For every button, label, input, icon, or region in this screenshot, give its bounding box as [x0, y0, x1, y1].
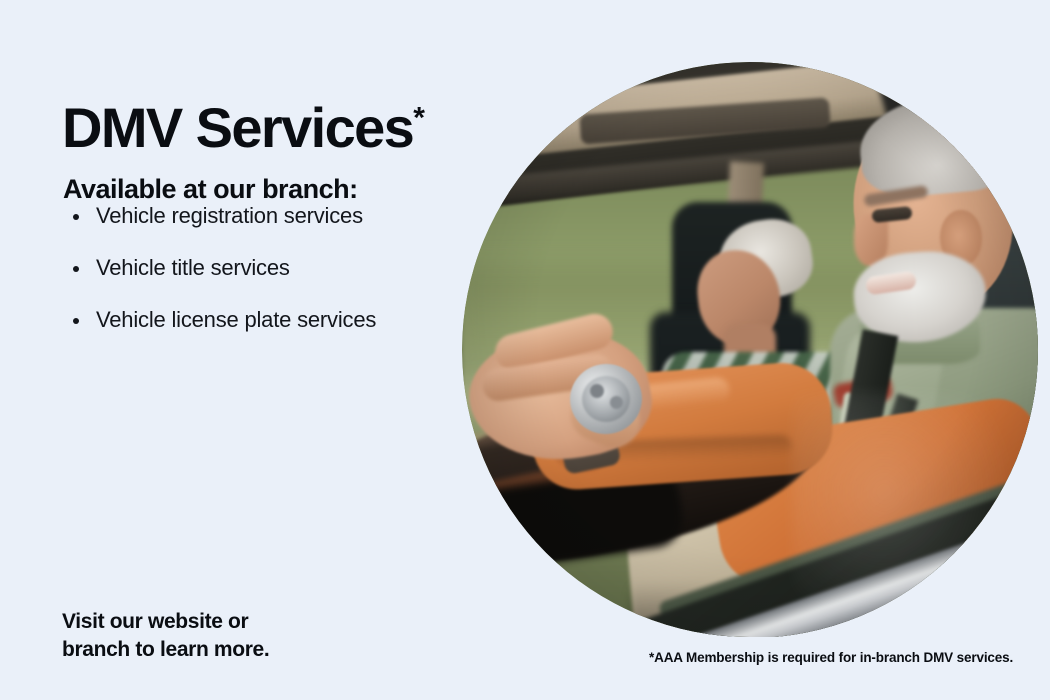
- photo-vignette: [462, 62, 1050, 637]
- list-item: Vehicle registration services: [63, 205, 463, 227]
- bullet-dot-icon: [73, 266, 79, 272]
- promo-banner: DMV Services* Available at our branch: V…: [0, 0, 1050, 700]
- footnote-marker: *: [413, 101, 425, 134]
- bullet-dot-icon: [73, 214, 79, 220]
- list-item-label: Vehicle title services: [96, 255, 290, 280]
- services-list: Vehicle registration services Vehicle ti…: [63, 205, 463, 361]
- page-title-text: DMV Services: [62, 96, 413, 159]
- bullet-dot-icon: [73, 318, 79, 324]
- list-item: Vehicle license plate services: [63, 309, 463, 331]
- call-to-action-text: Visit our website or branch to learn mor…: [62, 608, 269, 663]
- list-item-label: Vehicle registration services: [96, 203, 363, 228]
- list-item: Vehicle title services: [63, 257, 463, 279]
- hero-photo-circle-clip: [462, 62, 1050, 637]
- footnote-disclaimer: *AAA Membership is required for in-branc…: [649, 650, 1013, 665]
- hero-photo: [462, 62, 1050, 637]
- page-title: DMV Services*: [62, 100, 425, 156]
- list-item-label: Vehicle license plate services: [96, 307, 376, 332]
- subheading: Available at our branch:: [63, 174, 358, 205]
